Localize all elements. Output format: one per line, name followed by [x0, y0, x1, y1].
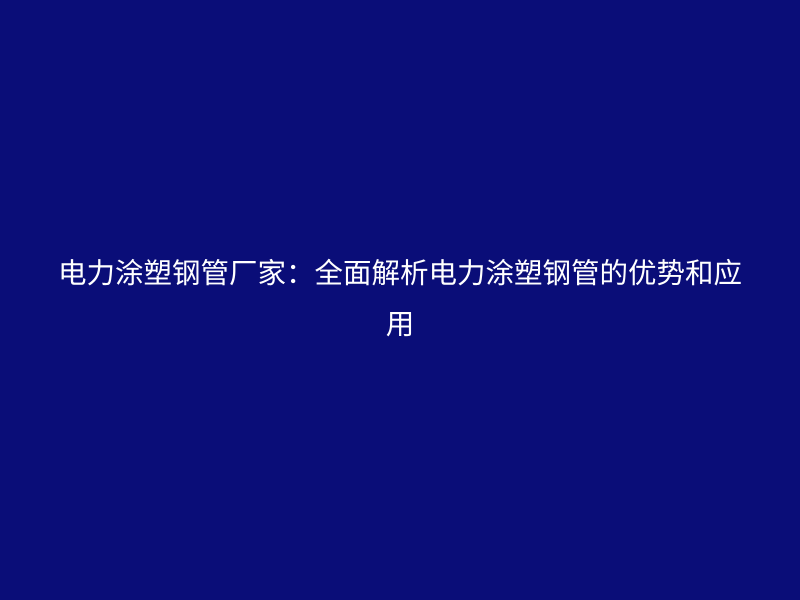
banner-container: 电力涂塑钢管厂家：全面解析电力涂塑钢管的优势和应用 — [0, 0, 800, 600]
title-block: 电力涂塑钢管厂家：全面解析电力涂塑钢管的优势和应用 — [50, 248, 750, 350]
page-title: 电力涂塑钢管厂家：全面解析电力涂塑钢管的优势和应用 — [50, 248, 750, 350]
